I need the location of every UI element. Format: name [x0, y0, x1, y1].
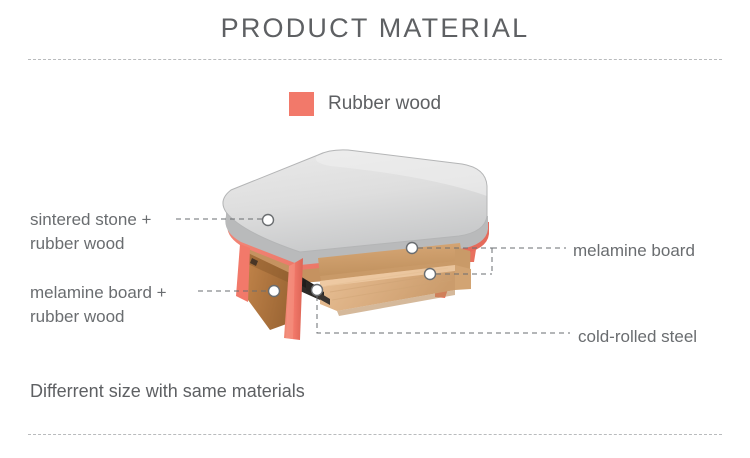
divider-top — [28, 59, 722, 60]
legend-label-rubber-wood: Rubber wood — [328, 93, 441, 115]
leader-lines — [176, 219, 570, 333]
legend: Rubber wood — [289, 92, 441, 116]
callout-label-melamine-board: melamine board — [573, 239, 695, 263]
table-leg-top-left — [236, 244, 250, 302]
leader-cold-rolled-steel — [317, 296, 570, 333]
callout-label-melamine-board-rubber-wood: melamine board + rubber wood — [30, 281, 167, 329]
marker-melamine-board-rubber-wood — [269, 286, 280, 297]
marker-cold-rolled-steel — [312, 285, 323, 296]
callout-label-cold-rolled-steel: cold-rolled steel — [578, 325, 697, 349]
drawer-rail-left — [306, 281, 330, 305]
callout-label-sintered-stone: sintered stone + rubber wood — [30, 208, 151, 256]
legend-swatch-rubber-wood — [289, 92, 314, 116]
drawer-box — [318, 243, 471, 316]
drawer-slide-steel — [300, 276, 332, 300]
table-leg-front-right — [435, 280, 451, 298]
marker-sintered-stone — [263, 215, 274, 226]
table-carcass — [246, 236, 471, 283]
product-material-infographic: PRODUCT MATERIAL Rubber wood — [0, 0, 750, 458]
table-leg-rear-right — [463, 231, 479, 262]
marker-melamine-board-lower — [425, 269, 436, 280]
callout-markers — [263, 215, 436, 297]
table-top-sintered-stone — [223, 150, 489, 270]
table-leg-front-left — [284, 258, 303, 340]
page-title: PRODUCT MATERIAL — [0, 13, 750, 44]
divider-bottom — [28, 434, 722, 435]
marker-melamine-board-upper — [407, 243, 418, 254]
table-side-panel-left — [248, 253, 292, 330]
footer-caption: Differrent size with same materials — [30, 381, 305, 402]
